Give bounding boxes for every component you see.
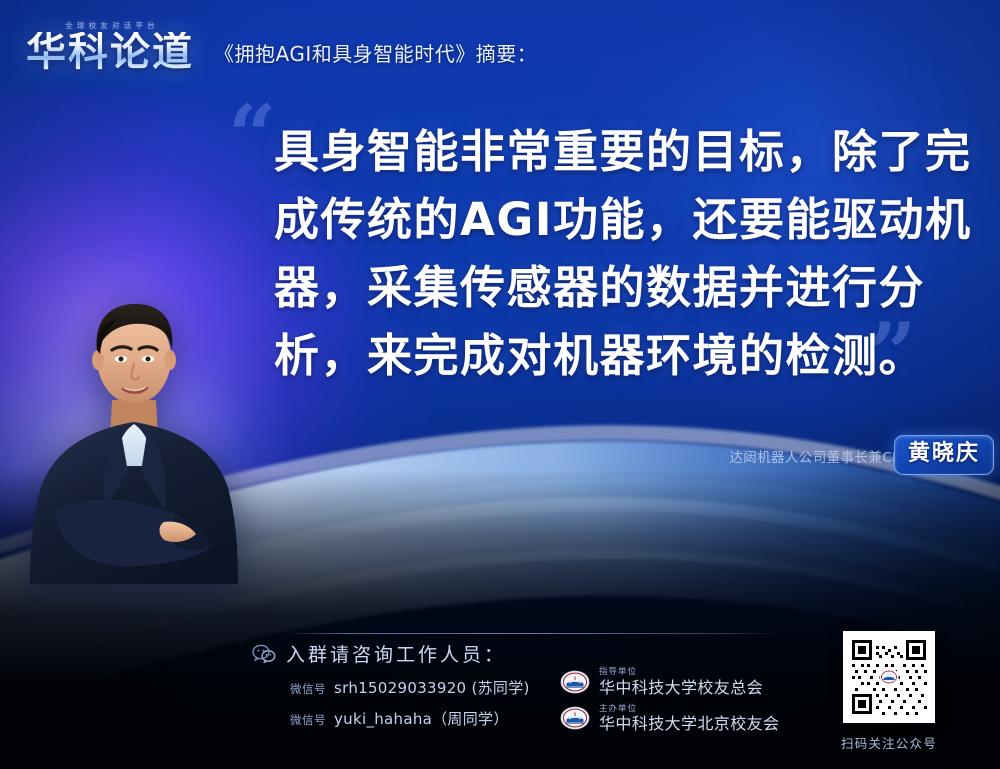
- qr-caption: 扫码关注公众号: [841, 733, 937, 752]
- wechat-label: 微信号: [290, 712, 326, 728]
- quote-line: 析，来完成对机器环境的检测。: [274, 322, 934, 390]
- organization-name: 华中科技大学北京校友会: [599, 716, 779, 732]
- hust-emblem-icon: [560, 670, 590, 694]
- logo-wordmark: 华科论道: [26, 32, 194, 72]
- hust-emblem-icon: [560, 706, 590, 730]
- quote-line: 具身智能非常重要的目标，除了完: [274, 118, 934, 186]
- organization-name: 华中科技大学校友总会: [599, 680, 763, 696]
- footer-divider: [286, 633, 780, 634]
- contact-row-2: 微信号 yuki_hahaha（周同学）: [290, 708, 530, 729]
- wechat-id[interactable]: srh15029033920 (苏同学): [334, 677, 530, 698]
- quote-text: 具身智能非常重要的目标，除了完 成传统的AGI功能，还要能驱动机 器，采集传感器…: [274, 118, 934, 390]
- organization-kicker: 主办单位: [599, 705, 779, 714]
- attribution: 达闼机器人公司董事长兼CEO 黄晓庆: [729, 446, 912, 466]
- quote-open-mark: “: [228, 94, 276, 178]
- organizations-section: 指导单位 华中科技大学校友总会 主办单位 华中科技大学北京校友会: [560, 668, 779, 732]
- quote-line: 器，采集传感器的数据并进行分: [274, 254, 934, 322]
- quote-line: 成传统的AGI功能，还要能驱动机: [274, 186, 934, 254]
- poster-canvas: 全球校友对话平台 华科论道 《拥抱AGI和具身智能时代》摘要： “ 具身智能非常…: [0, 0, 1000, 769]
- organization-text: 主办单位 华中科技大学北京校友会: [599, 705, 779, 733]
- page-title: 《拥抱AGI和具身智能时代》摘要：: [214, 38, 537, 67]
- wechat-icon: [252, 644, 276, 664]
- contact-row-1: 微信号 srh15029033920 (苏同学): [290, 677, 530, 698]
- wechat-id[interactable]: yuki_hahaha（周同学）: [334, 708, 509, 729]
- organization-kicker: 指导单位: [599, 668, 763, 677]
- organization-text: 指导单位 华中科技大学校友总会: [599, 668, 763, 696]
- qr-code-icon[interactable]: [843, 631, 935, 723]
- contact-header: 入群请咨询工作人员：: [252, 640, 530, 667]
- speaker-name-badge: 黄晓庆: [894, 435, 994, 475]
- header: 全球校友对话平台 华科论道 《拥抱AGI和具身智能时代》摘要：: [0, 0, 1000, 92]
- wechat-label: 微信号: [290, 681, 326, 697]
- organization-row: 指导单位 华中科技大学校友总会: [560, 668, 779, 696]
- contact-title: 入群请咨询工作人员：: [286, 640, 506, 667]
- speaker-role: 达闼机器人公司董事长兼CEO: [729, 446, 912, 466]
- brand-logo[interactable]: 全球校友对话平台 华科论道: [26, 20, 194, 72]
- contact-section: 入群请咨询工作人员： 微信号 srh15029033920 (苏同学) 微信号 …: [252, 640, 530, 729]
- organization-row: 主办单位 华中科技大学北京校友会: [560, 705, 779, 733]
- qr-section: 扫码关注公众号: [841, 631, 937, 752]
- speaker-portrait: [24, 284, 244, 584]
